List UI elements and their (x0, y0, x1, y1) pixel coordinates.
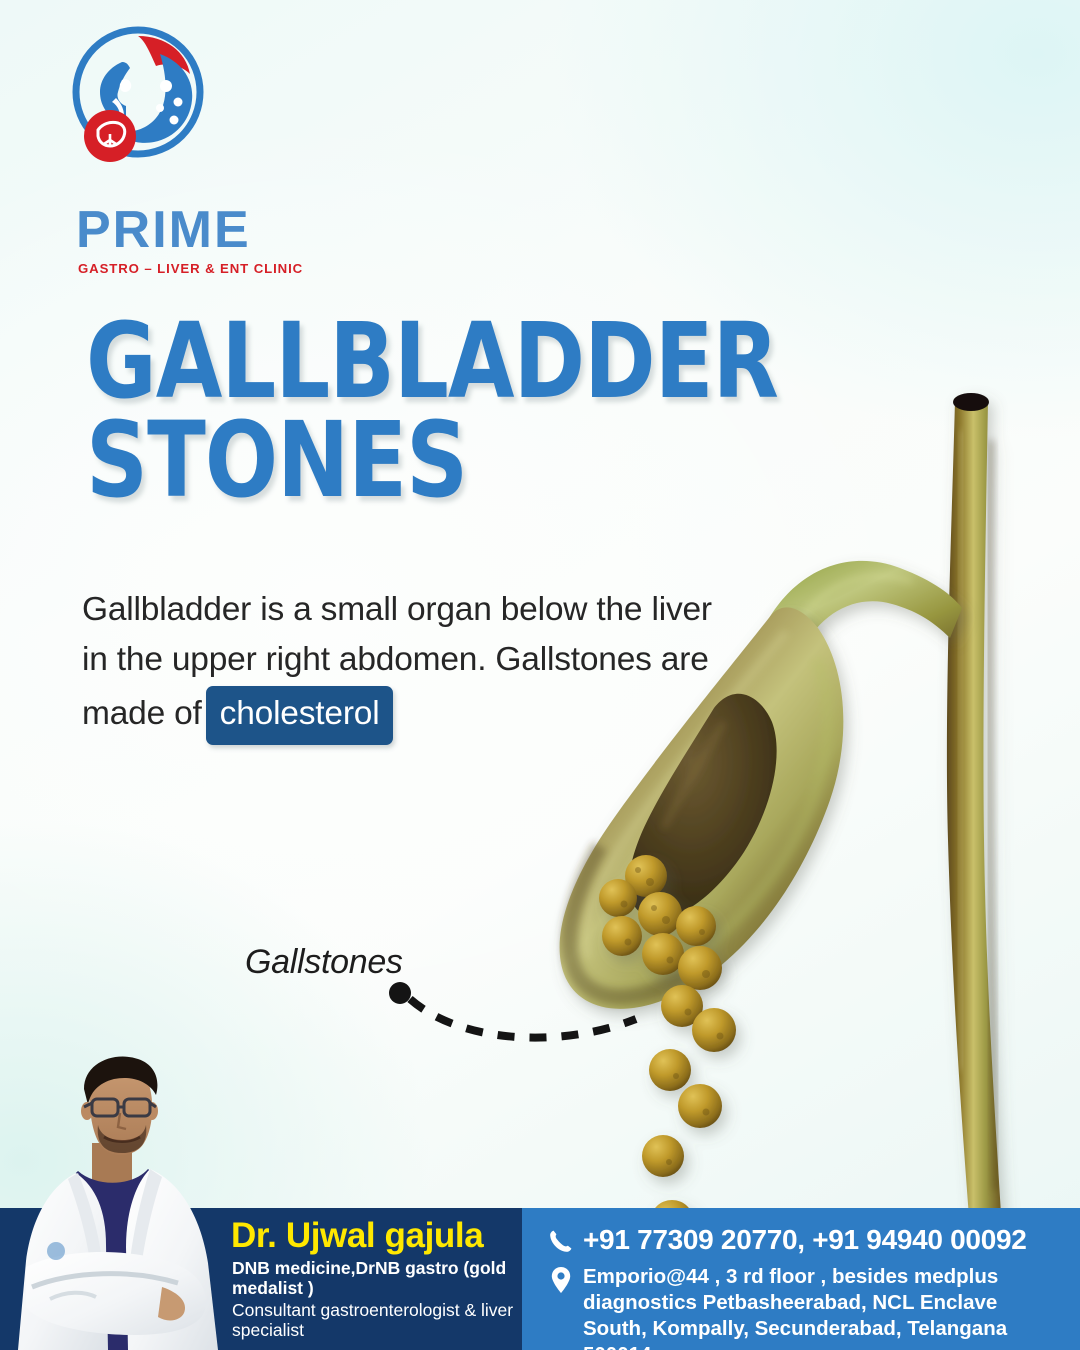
bile-duct-icon (947, 393, 1002, 1230)
location-pin-icon (549, 1266, 573, 1294)
cholesterol-highlight: cholesterol (206, 686, 394, 745)
phone-icon (548, 1228, 574, 1254)
clinic-emblem-icon (64, 22, 212, 170)
gallbladder-illustration (500, 370, 1080, 1240)
doctor-portrait-icon (0, 1055, 262, 1350)
doctor-name: Dr. Ujwal gajula (231, 1216, 483, 1256)
doctor-credentials: DNB medicine,DrNB gastro (gold medalist … (232, 1258, 520, 1299)
brand-tagline: GASTRO – LIVER & ENT CLINIC (78, 261, 303, 276)
callout-leader (370, 975, 670, 1055)
dashed-leader-line-icon (410, 999, 636, 1038)
contact-phone[interactable]: +91 77309 20770, +91 94940 00092 (583, 1224, 1027, 1256)
brand-name: PRIME (76, 204, 251, 256)
clinic-logo: PRIME GASTRO – LIVER & ENT CLINIC (40, 22, 302, 267)
contact-address: Emporio@44 , 3 rd floor , besides medplu… (583, 1264, 1053, 1350)
doctor-role: Consultant gastroenterologist & liver sp… (232, 1300, 522, 1341)
poster-canvas: PRIME GASTRO – LIVER & ENT CLINIC GALLBL… (0, 0, 1080, 1350)
callout-dot-icon (389, 982, 411, 1004)
